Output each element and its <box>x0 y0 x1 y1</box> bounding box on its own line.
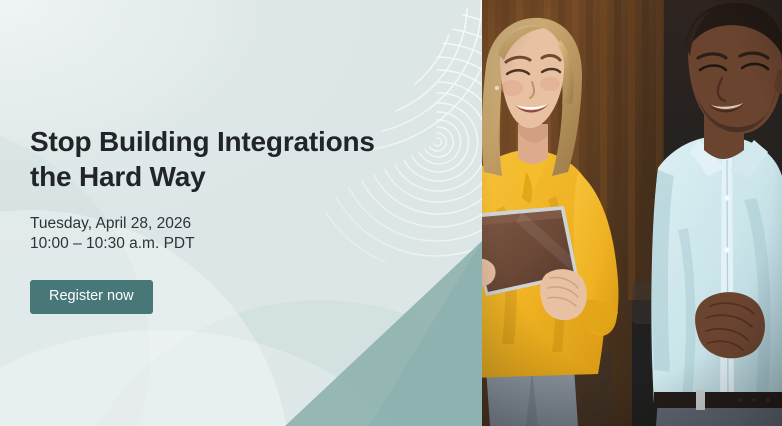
event-details: Tuesday, April 28, 2026 10:00 – 10:30 a.… <box>30 214 430 254</box>
headline-line-2: the Hard Way <box>30 159 430 194</box>
decorative-arc-bottom <box>0 330 440 426</box>
event-date: Tuesday, April 28, 2026 <box>30 214 430 234</box>
hero-photo <box>482 0 782 426</box>
promo-content: Stop Building Integrations the Hard Way … <box>30 124 430 314</box>
event-time: 10:00 – 10:30 a.m. PDT <box>30 234 430 254</box>
page-title: Stop Building Integrations the Hard Way <box>30 124 430 194</box>
hero-photo-illustration <box>482 0 782 426</box>
decorative-arc-tint <box>60 300 483 426</box>
webinar-promo-banner: Stop Building Integrations the Hard Way … <box>0 0 782 426</box>
register-now-button[interactable]: Register now <box>30 280 153 314</box>
content-panel: Stop Building Integrations the Hard Way … <box>0 0 483 426</box>
headline-line-1: Stop Building Integrations <box>30 124 430 159</box>
